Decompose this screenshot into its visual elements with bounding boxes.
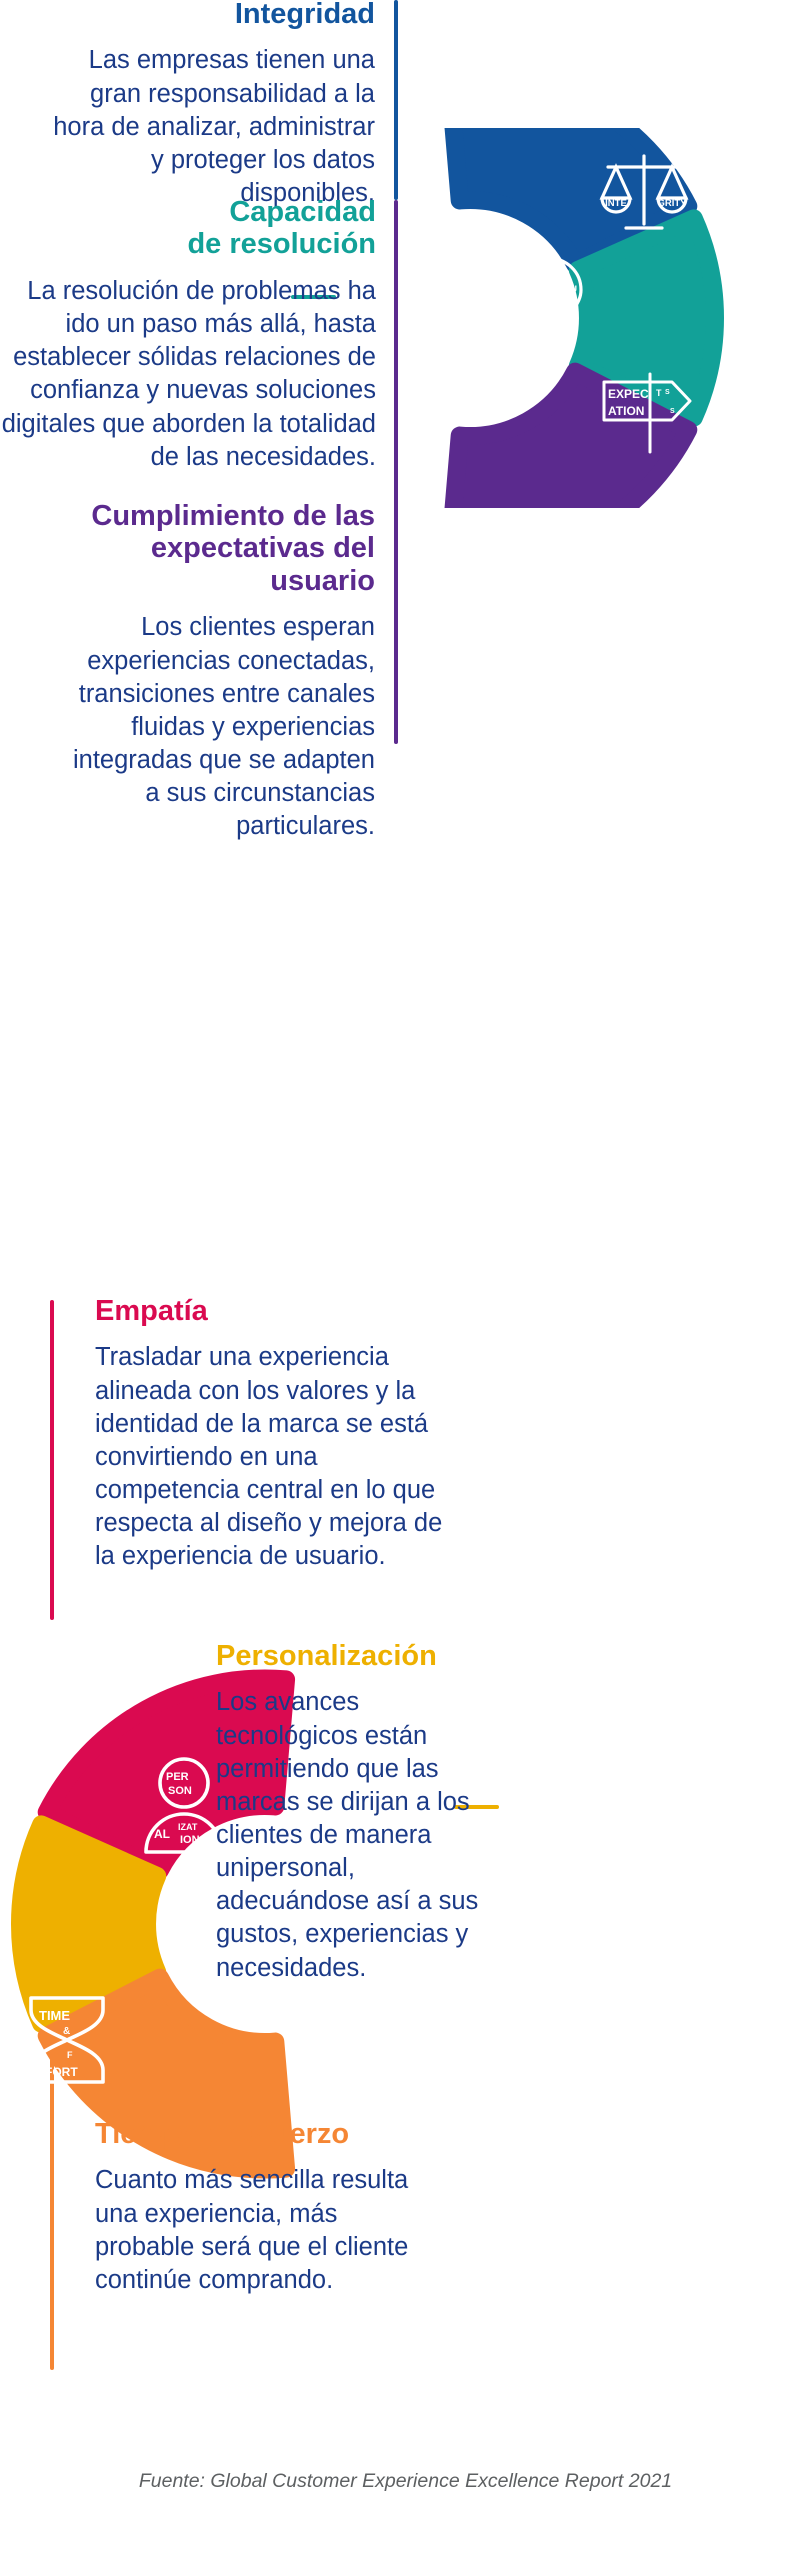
svg-text:IO: IO bbox=[563, 295, 573, 305]
signpost-icon: EXPEC T S ATION S bbox=[598, 370, 698, 456]
section-personalizacion: Personalización Los avances tecnológicos… bbox=[216, 1640, 481, 1985]
person-icon: PER SON AL IZAT ION bbox=[140, 1756, 228, 1856]
svg-text:ATHY: ATHY bbox=[44, 1684, 79, 1699]
svg-text:F: F bbox=[67, 2050, 73, 2060]
svg-text:T: T bbox=[656, 388, 662, 398]
section-empatia: Empatía Trasladar una experiencia alinea… bbox=[95, 1295, 458, 1573]
section-integridad: Integridad Las empresas tienen una gran … bbox=[40, 0, 375, 210]
svg-text:GRITY: GRITY bbox=[657, 198, 687, 209]
section-tiempo-y-esfuerzo: Tiempo y esfuerzo Cuanto más sencilla re… bbox=[95, 2118, 425, 2297]
svg-text:EXPEC: EXPEC bbox=[608, 387, 649, 401]
body-integridad: Las empresas tienen una gran responsabil… bbox=[40, 44, 375, 210]
hourglass-icon: TIME & EFORT F bbox=[23, 1992, 111, 2088]
body-empatia: Trasladar una experiencia alineada con l… bbox=[95, 1341, 458, 1573]
lightbulb-icon: R E S O LU IO T N bbox=[505, 253, 589, 345]
svg-text:T: T bbox=[537, 300, 545, 314]
svg-text:&: & bbox=[63, 2026, 70, 2037]
svg-text:SON: SON bbox=[168, 1785, 192, 1797]
heading-line-1: Cumplimiento de las bbox=[91, 500, 375, 532]
svg-text:ATION: ATION bbox=[608, 404, 644, 418]
svg-text:S: S bbox=[665, 389, 670, 396]
source-footnote: Fuente: Global Customer Experience Excel… bbox=[0, 2470, 811, 2493]
svg-text:S: S bbox=[535, 288, 542, 299]
svg-text:EMP: EMP bbox=[32, 1663, 65, 1680]
heading-empatia: Empatía bbox=[95, 1295, 458, 1327]
infographic-canvas: INTE GRITY R E S O LU IO T N bbox=[0, 0, 811, 2560]
heart-icon: EMP ATHY bbox=[18, 1638, 114, 1724]
svg-text:LU: LU bbox=[565, 284, 577, 294]
svg-text:ION: ION bbox=[180, 1834, 200, 1846]
heading-tiempo-y-esfuerzo: Tiempo y esfuerzo bbox=[95, 2118, 425, 2150]
heading-line-1: Capacidad bbox=[229, 196, 376, 228]
svg-text:N: N bbox=[563, 305, 570, 315]
svg-text:O: O bbox=[550, 272, 559, 286]
svg-text:AL: AL bbox=[154, 1827, 170, 1841]
section-cumplimiento-de-expectativas: Cumplimiento de las expectativas del usu… bbox=[60, 500, 375, 843]
svg-text:R: R bbox=[523, 283, 533, 298]
svg-text:E: E bbox=[538, 277, 545, 288]
svg-text:IZAT: IZAT bbox=[178, 1822, 198, 1832]
body-personalizacion: Los avances tecnológicos están permitien… bbox=[216, 1686, 481, 1984]
scales-icon: INTE GRITY bbox=[598, 148, 690, 240]
body-tiempo-y-esfuerzo: Cuanto más sencilla resulta una experien… bbox=[95, 2164, 425, 2297]
svg-text:TIME: TIME bbox=[39, 2008, 70, 2023]
body-cumplimiento-de-expectativas: Los clientes esperan experiencias conect… bbox=[60, 611, 375, 843]
heading-integridad: Integridad bbox=[40, 0, 375, 30]
svg-text:INTE: INTE bbox=[605, 198, 627, 209]
svg-text:PER: PER bbox=[166, 1771, 189, 1783]
body-capacidad-de-resolucion: La resolución de problemas ha ido un pas… bbox=[0, 275, 376, 474]
heading-line-2: de resolución bbox=[187, 228, 376, 260]
heading-personalizacion: Personalización bbox=[216, 1640, 481, 1672]
heading-capacidad-de-resolucion: Capacidad de resolución bbox=[0, 196, 376, 261]
heading-line-2: expectativas del usuario bbox=[151, 532, 375, 596]
svg-text:EFORT: EFORT bbox=[37, 2065, 78, 2079]
section-capacidad-de-resolucion: Capacidad de resolución La resolución de… bbox=[0, 196, 376, 474]
svg-text:S: S bbox=[670, 408, 675, 415]
heading-cumplimiento-de-expectativas: Cumplimiento de las expectativas del usu… bbox=[60, 500, 375, 597]
